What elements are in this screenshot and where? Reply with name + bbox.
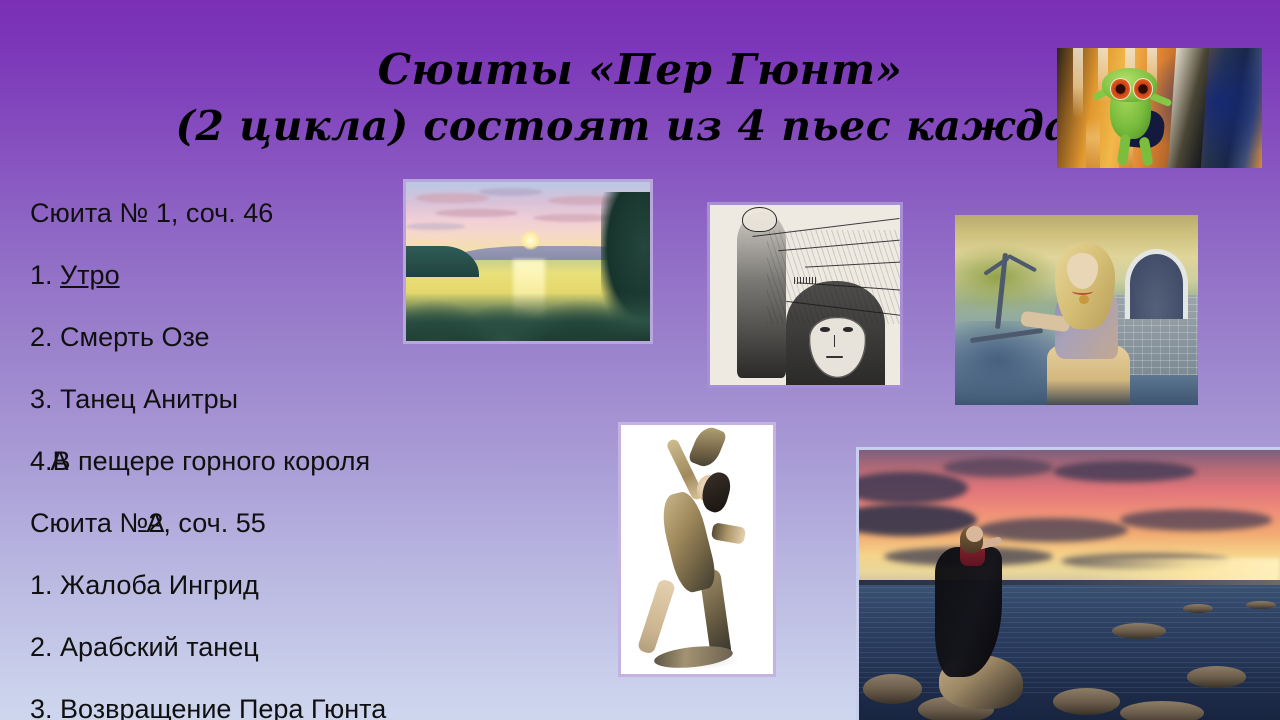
sea-rock (1187, 666, 1246, 688)
suite-1-item-3-number: 3. (30, 384, 60, 414)
sunrise-lake-painting (403, 179, 653, 344)
cloud (416, 193, 489, 203)
page-title: Сюиты «Пер Гюнт» (2 цикла) состоят из 4 … (170, 42, 1110, 154)
slide-canvas: Сюиты «Пер Гюнт» (2 цикла) состоят из 4 … (0, 0, 1280, 720)
suite-2-item-1-label: Жалоба Ингрид (60, 570, 259, 600)
suite-1-item-1-number: 1. (30, 260, 60, 290)
suite-2-heading-text: 2, соч. 55 (148, 508, 265, 538)
pendant (1079, 295, 1089, 305)
suite-2-item-3-number: 3. (30, 694, 60, 720)
cloud (406, 223, 465, 229)
suite-1-item-1-label: Утро (60, 260, 120, 290)
stalagmite (1086, 118, 1100, 168)
troll-eye (1110, 78, 1130, 100)
list-item: Сюита №А2, соч. 55 (30, 492, 550, 554)
cloud (1120, 509, 1272, 531)
face-eye (843, 327, 853, 332)
suite-1-heading-text: Сюита № 1, соч. 46 (30, 198, 273, 228)
standing-figure (737, 212, 786, 378)
pencil-sketch-image (707, 202, 903, 388)
cloud (435, 209, 518, 217)
seashore-sunset-photo (856, 447, 1280, 720)
suite-1-item-4-label: В пещере горного короля (53, 446, 371, 476)
face-eye (820, 327, 830, 332)
necklace (1072, 287, 1094, 295)
list-item: 3. Танец Анитры (30, 368, 550, 430)
standing-figure-head (742, 207, 776, 232)
list-item: 2. Арабский танец (30, 616, 550, 678)
shore-rock (1053, 688, 1120, 715)
stalactite (1073, 48, 1083, 118)
troll-in-cave-image (1057, 48, 1262, 168)
scribble-mark (794, 277, 817, 284)
dancer-figurine-image (618, 422, 776, 677)
back-leg (637, 579, 676, 655)
suite-2-item-2-number: 2. (30, 632, 60, 662)
shore-rock (1120, 701, 1204, 720)
list-item: 4.АВ пещере горного короля (30, 430, 550, 492)
watercolor-solveig-image (955, 215, 1198, 405)
ribbon (687, 424, 727, 471)
sea-rock (1183, 604, 1212, 613)
face-mouth (826, 356, 843, 358)
extended-arm (711, 522, 747, 545)
woman-head (966, 526, 983, 542)
suite-2-item-3-label: Возвращение Пера Гюнта (60, 694, 386, 720)
shore-rock (863, 674, 922, 704)
suite-2-item-2-label: Арабский танец (60, 632, 259, 662)
list-item: 3. Возвращение Пера Гюнта (30, 678, 550, 720)
page-title-line-2: (2 цикла) состоят из 4 пьес каждая (170, 98, 1110, 154)
stone-arch (1125, 249, 1188, 319)
suite-1-item-2-number: 2. (30, 322, 60, 352)
face-nose (834, 335, 836, 348)
foreground-bushes (406, 293, 650, 341)
list-item: 1. Жалоба Ингрид (30, 554, 550, 616)
suite-1-item-3-label: Танец Анитры (60, 384, 238, 414)
suite-2-item-1-number: 1. (30, 570, 60, 600)
page-title-line-1: Сюиты «Пер Гюнт» (170, 42, 1110, 98)
sea-rock (1112, 623, 1167, 639)
suite-1-item-4-number: 4. (30, 446, 53, 476)
cloud (943, 458, 1052, 477)
suite-2-heading-prefix: Сюита № (30, 508, 148, 538)
suite-1-item-2-label: Смерть Озе (60, 322, 210, 352)
